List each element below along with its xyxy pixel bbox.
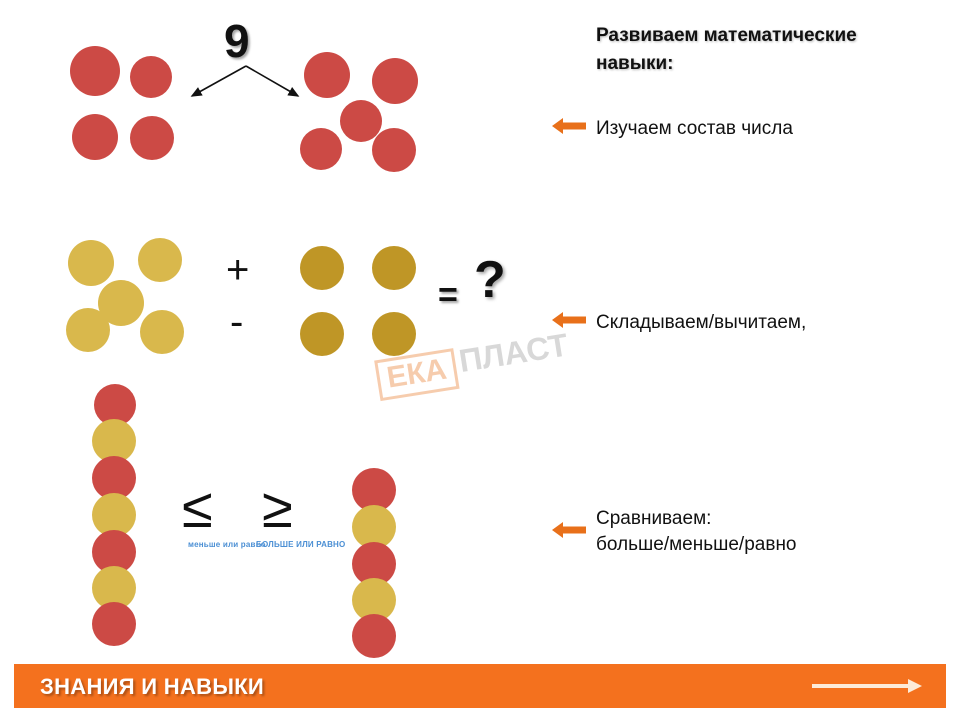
decomposition-arrows-icon xyxy=(180,62,310,108)
footer-bar: ЗНАНИЯ И НАВЫКИ xyxy=(14,664,946,708)
chip-red xyxy=(72,114,118,160)
bullet-arrow-left-icon xyxy=(552,521,586,539)
skills-item-3-line-1: Сравниваем: xyxy=(596,506,946,533)
skills-item-1: Изучаем состав числа xyxy=(596,116,946,143)
number-nine-label: 9 xyxy=(224,18,250,64)
equals-operator-label: = xyxy=(438,278,458,312)
chip-gold xyxy=(68,240,114,286)
skills-item-2: Складываем/вычитаем, xyxy=(596,310,946,337)
chip-red xyxy=(130,56,172,98)
chip-red xyxy=(352,614,396,658)
bullet-arrow-left-icon xyxy=(552,311,586,329)
chip-dark-gold xyxy=(300,246,344,290)
less-or-equal-symbol: ≤ xyxy=(182,480,213,536)
footer-arrow-right-icon xyxy=(812,677,922,695)
footer-label: ЗНАНИЯ И НАВЫКИ xyxy=(40,674,264,700)
chip-dark-gold xyxy=(372,246,416,290)
chip-gold xyxy=(66,308,110,352)
chip-dark-gold xyxy=(300,312,344,356)
greater-or-equal-caption: БОЛЬШЕ ИЛИ РАВНО xyxy=(256,540,345,549)
question-mark-label: ? xyxy=(474,254,506,306)
chip-red xyxy=(372,128,416,172)
chip-red xyxy=(92,602,136,646)
greater-or-equal-symbol: ≥ xyxy=(262,480,293,536)
slide-canvas: 9 xyxy=(0,0,960,720)
watermark-plain-text: ПЛАСТ xyxy=(457,328,570,377)
chip-gold xyxy=(138,238,182,282)
chip-dark-gold xyxy=(372,312,416,356)
skills-item-3-line-2: больше/меньше/равно xyxy=(596,532,946,559)
skills-panel-heading: Развиваем математические навыки: xyxy=(596,22,936,77)
watermark-boxed-text: ЕКА xyxy=(374,348,459,401)
minus-operator-label: - xyxy=(230,302,243,342)
less-or-equal-caption: меньше или равно xyxy=(188,540,266,549)
bullet-arrow-left-icon xyxy=(552,117,586,135)
chip-red xyxy=(300,128,342,170)
chip-red xyxy=(304,52,350,98)
plus-operator-label: + xyxy=(226,250,249,290)
chip-gold xyxy=(140,310,184,354)
chip-red xyxy=(372,58,418,104)
chip-red xyxy=(70,46,120,96)
chip-red xyxy=(130,116,174,160)
